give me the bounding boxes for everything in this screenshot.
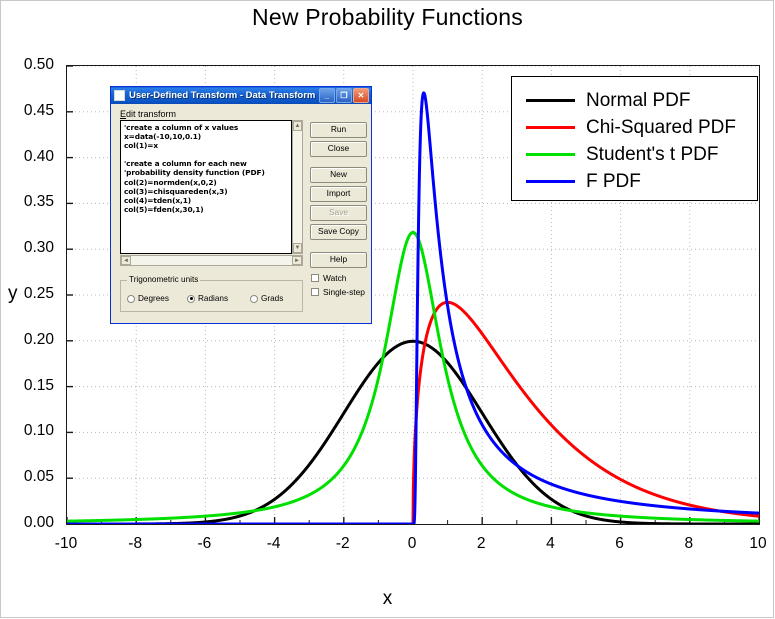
radio-label: Radians <box>198 294 228 303</box>
maximize-icon[interactable]: ❐ <box>336 88 352 103</box>
scroll-up-icon[interactable]: ▲ <box>293 121 302 131</box>
legend-color-swatch <box>526 153 575 156</box>
transform-code-editor[interactable]: 'create a column of x values x=data(-10,… <box>120 120 292 254</box>
checkbox-icon[interactable] <box>311 288 319 296</box>
radio-icon[interactable] <box>127 295 135 303</box>
x-tick-label: -6 <box>174 536 234 552</box>
scroll-right-icon[interactable]: ► <box>292 256 302 265</box>
y-tick-label: 0.00 <box>4 515 54 531</box>
y-tick-label: 0.20 <box>4 332 54 348</box>
help-button[interactable]: Help <box>310 252 367 268</box>
legend-item: Normal PDF <box>526 87 757 114</box>
legend-color-swatch <box>526 126 575 129</box>
y-tick-label: 0.35 <box>4 194 54 210</box>
x-tick-label: -4 <box>244 536 304 552</box>
user-defined-transform-dialog[interactable]: User-Defined Transform - Data Transform … <box>110 86 372 324</box>
trigonometric-units-label: Trigonometric units <box>127 275 200 284</box>
legend-label: F PDF <box>586 172 641 191</box>
import-button[interactable]: Import <box>310 186 367 202</box>
y-tick-label: 0.25 <box>4 286 54 302</box>
dialog-body: Edit transform 'create a column of x val… <box>111 104 371 325</box>
legend-label: Normal PDF <box>586 91 691 110</box>
run-button[interactable]: Run <box>310 122 367 138</box>
minimize-icon[interactable]: _ <box>319 88 335 103</box>
x-tick-label: 6 <box>590 536 650 552</box>
window-icon <box>114 90 125 101</box>
x-tick-label: 2 <box>451 536 511 552</box>
scroll-left-icon[interactable]: ◄ <box>121 256 131 265</box>
dialog-title: User-Defined Transform - Data Transform <box>129 90 318 101</box>
y-tick-label: 0.50 <box>4 57 54 73</box>
save-copy-button[interactable]: Save Copy <box>310 224 367 240</box>
scroll-down-icon[interactable]: ▼ <box>293 243 302 253</box>
code-vertical-scrollbar[interactable]: ▲ ▼ <box>292 120 303 254</box>
legend-item: F PDF <box>526 168 757 195</box>
checkbox-icon[interactable] <box>311 274 319 282</box>
x-tick-label: -2 <box>313 536 373 552</box>
transform-code-text: 'create a column of x values x=data(-10,… <box>124 123 288 214</box>
radio-icon[interactable] <box>250 295 258 303</box>
radio-label: Grads <box>261 294 283 303</box>
x-tick-label: 10 <box>728 536 775 552</box>
single-step-checkbox[interactable]: Single-step <box>311 287 365 297</box>
x-axis-title: x <box>0 588 775 610</box>
x-tick-label: -8 <box>105 536 165 552</box>
grads-radio[interactable]: Grads <box>250 294 283 303</box>
y-tick-label: 0.05 <box>4 469 54 485</box>
close-icon[interactable]: ✕ <box>353 88 369 103</box>
legend-label: Student's t PDF <box>586 145 718 164</box>
checkbox-label: Single-step <box>323 287 365 297</box>
code-horizontal-scrollbar[interactable]: ◄ ► <box>120 255 303 266</box>
chart-series-line <box>67 302 759 524</box>
chart-legend: Normal PDFChi-Squared PDFStudent's t PDF… <box>511 76 758 201</box>
legend-item: Student's t PDF <box>526 141 757 168</box>
edit-transform-label-rest: dit transform <box>126 109 176 119</box>
y-tick-label: 0.45 <box>4 103 54 119</box>
radio-label: Degrees <box>138 294 169 303</box>
y-tick-label: 0.40 <box>4 149 54 165</box>
degrees-radio[interactable]: Degrees <box>127 294 169 303</box>
dialog-title-bar[interactable]: User-Defined Transform - Data Transform … <box>111 87 371 104</box>
close-button[interactable]: Close <box>310 141 367 157</box>
x-tick-label: -10 <box>36 536 96 552</box>
legend-color-swatch <box>526 99 575 102</box>
y-tick-label: 0.15 <box>4 378 54 394</box>
legend-label: Chi-Squared PDF <box>586 118 736 137</box>
page-title: New Probability Functions <box>0 4 775 31</box>
legend-color-swatch <box>526 180 575 183</box>
checkbox-label: Watch <box>323 273 346 283</box>
save-button: Save <box>310 205 367 221</box>
x-tick-label: 0 <box>382 536 442 552</box>
edit-transform-label: Edit transform <box>120 109 176 119</box>
new-button[interactable]: New <box>310 167 367 183</box>
legend-item: Chi-Squared PDF <box>526 114 757 141</box>
watch-checkbox[interactable]: Watch <box>311 273 346 283</box>
radio-icon[interactable] <box>187 295 195 303</box>
x-tick-label: 8 <box>659 536 719 552</box>
y-tick-label: 0.30 <box>4 240 54 256</box>
x-tick-label: 4 <box>520 536 580 552</box>
radians-radio[interactable]: Radians <box>187 294 228 303</box>
y-tick-label: 0.10 <box>4 423 54 439</box>
